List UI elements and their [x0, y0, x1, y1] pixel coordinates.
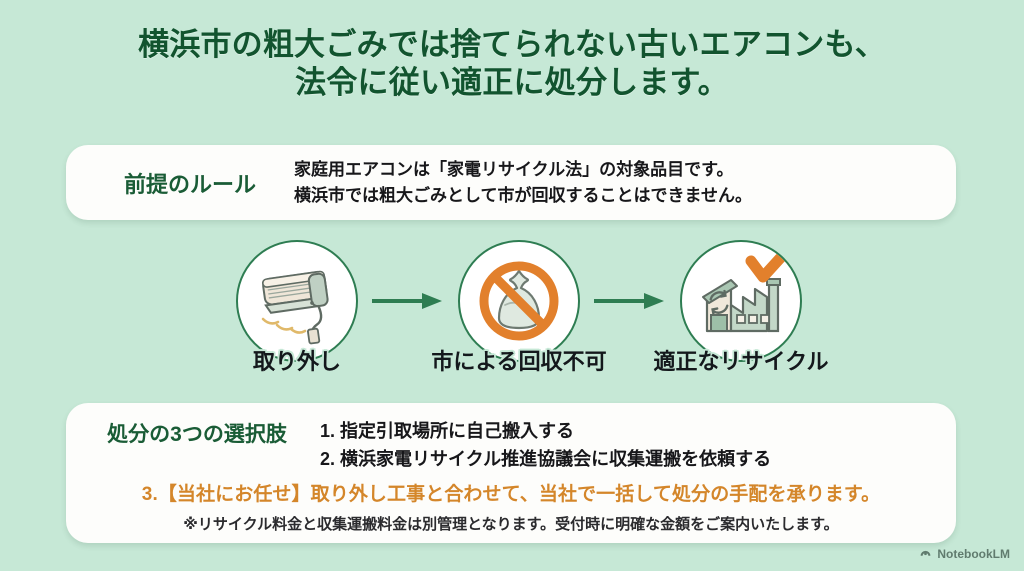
list-item: 1. 指定引取場所に自己搬入する: [320, 417, 936, 445]
disposal-options-list: 1. 指定引取場所に自己搬入する 2. 横浜家電リサイクル推進協議会に収集運搬を…: [308, 417, 936, 473]
arrow-right-icon: [372, 292, 444, 310]
option-highlight-text: 3.【当社にお任せ】取り外し工事と合わせて、当社で一括して処分の手配を承ります。: [86, 479, 936, 506]
notebooklm-watermark: NotebookLM: [919, 546, 1010, 562]
flow-step-removal: 取り外し: [222, 240, 372, 390]
disposal-options-label: 処分の3つの選択肢: [86, 417, 308, 448]
premise-rule-body: 家庭用エアコンは「家電リサイクル法」の対象品目です。 横浜市では粗大ごみとして市…: [288, 157, 938, 209]
option-number: 1.: [320, 417, 340, 445]
premise-rule-label: 前提のルール: [92, 167, 288, 199]
option-number: 2.: [320, 445, 340, 473]
flow-step-proper-recycling: 適正なリサイクル: [666, 240, 816, 390]
option-text: 指定引取場所に自己搬入する: [340, 417, 574, 445]
fee-note-text: ※リサイクル料金と収集運搬料金は別管理となります。受付時に明確な金額をご案内いた…: [86, 513, 936, 534]
option-text: 横浜家電リサイクル推進協議会に収集運搬を依頼する: [340, 445, 771, 473]
premise-rule-text-line-1: 家庭用エアコンは「家電リサイクル法」の対象品目です。: [294, 157, 938, 183]
page-title-line-1: 横浜市の粗大ごみでは捨てられない古いエアコンも、: [0, 26, 1024, 64]
notebooklm-logo-icon: [919, 546, 932, 562]
page-title-line-2: 法令に従い適正に処分します。: [0, 64, 1024, 102]
no-garbage-bag-icon: [471, 253, 567, 349]
disposal-options-card: 処分の3つの選択肢 1. 指定引取場所に自己搬入する 2. 横浜家電リサイクル推…: [66, 403, 956, 543]
premise-rule-text-line-2: 横浜市では粗大ごみとして市が回収することはできません。: [294, 183, 938, 209]
flow-step-proper-recycling-label: 適正なリサイクル: [652, 344, 830, 376]
notebooklm-label: NotebookLM: [937, 547, 1010, 561]
air-conditioner-icon: [249, 253, 345, 349]
flow-step-removal-label: 取り外し: [208, 344, 386, 376]
disposal-flow-diagram: 取り外し 市による回収不可: [222, 240, 852, 390]
list-item: 2. 横浜家電リサイクル推進協議会に収集運搬を依頼する: [320, 445, 936, 473]
arrow-right-icon: [594, 292, 666, 310]
page-title: 横浜市の粗大ごみでは捨てられない古いエアコンも、 法令に従い適正に処分します。: [0, 26, 1024, 102]
flow-step-no-city-collection: 市による回収不可: [444, 240, 594, 390]
recycling-factory-icon: [693, 253, 789, 349]
premise-rule-card: 前提のルール 家庭用エアコンは「家電リサイクル法」の対象品目です。 横浜市では粗…: [66, 145, 956, 220]
flow-step-no-city-collection-label: 市による回収不可: [430, 344, 608, 376]
